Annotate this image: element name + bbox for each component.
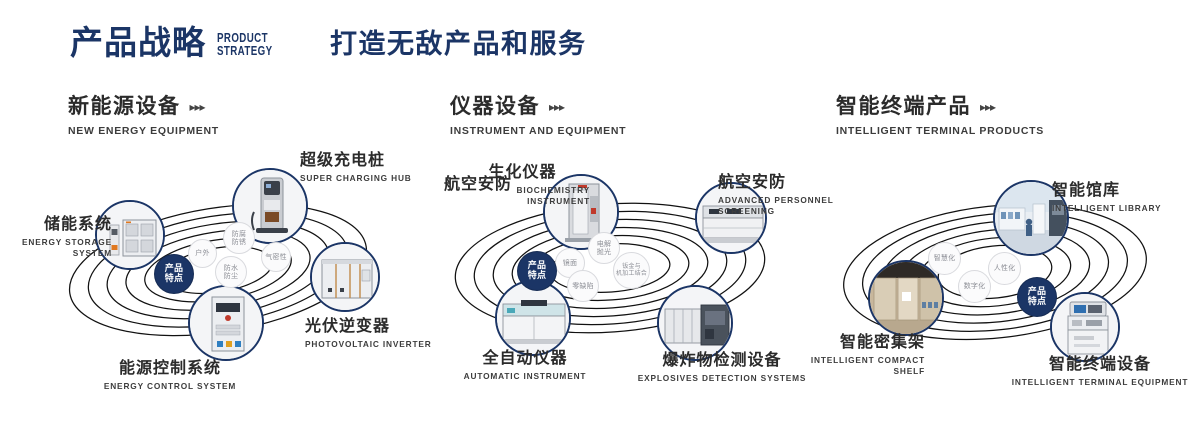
chevron-right-icon: ▸▸▸ [980, 101, 995, 113]
node-explosives-detection-systems[interactable] [657, 285, 733, 361]
section-title-cn: 仪器设备 [450, 96, 540, 117]
feature-label: 人性化 [994, 264, 1016, 272]
feature-bubble: 气密性 [261, 242, 291, 272]
feature-label: 气密性 [265, 253, 287, 261]
label-cn: 生化仪器 [455, 164, 590, 182]
feature-label: 零缺陷 [572, 282, 594, 290]
core-badge-product-features: 产品 特点 [1018, 278, 1056, 316]
feature-label: 智慧化 [934, 254, 956, 262]
label-en: INTELLIGENT COMPACT SHELF [790, 355, 925, 377]
label-en: AUTOMATIC INSTRUMENT [430, 371, 620, 382]
feature-bubble: 户外 [188, 239, 217, 268]
node-automatic-instrument[interactable] [495, 280, 571, 356]
label-biochemistry-instrument: 生化仪器 BIOCHEMISTRY INSTRUMENT [455, 164, 590, 207]
feature-bubble: 数字化 [958, 270, 991, 303]
label-energy-storage-system: 储能系统 ENERGY STORAGE SYSTEM [0, 216, 112, 259]
label-en: INTELLIGENT LIBRARY [1052, 203, 1161, 214]
page-title-cn: 产品战略 [70, 26, 206, 59]
label-en: PHOTOVOLTAIC INVERTER [305, 339, 432, 350]
label-cn: 超级充电桩 [300, 152, 412, 170]
label-intelligent-library: 智能馆库 INTELLIGENT LIBRARY [1052, 182, 1161, 214]
feature-label: 电解 抛光 [597, 240, 611, 256]
feature-bubble: 人性化 [988, 252, 1021, 285]
label-en: ENERGY CONTROL SYSTEM [85, 381, 255, 392]
section-title-cn: 智能终端产品 [836, 96, 971, 117]
kiosk-icon [1052, 294, 1118, 360]
core-badge-label: 产品 特点 [165, 264, 184, 284]
page-title-en: PRODUCT STRATEGY [217, 32, 272, 57]
label-cn: 智能密集架 [790, 334, 925, 352]
label-cn: 全自动仪器 [430, 350, 620, 368]
core-badge-product-features: 产品 特点 [518, 252, 556, 290]
explosive-detector-icon [659, 287, 731, 359]
section-heading-new-energy: 新能源设备 ▸▸▸ NEW ENERGY EQUIPMENT [68, 96, 219, 137]
page-title-en-line1: PRODUCT [217, 32, 272, 45]
core-badge-label: 产品 特点 [1028, 287, 1047, 307]
label-super-charging-hub: 超级充电桩 SUPER CHARGING HUB [300, 152, 412, 184]
label-energy-control-system: 能源控制系统 ENERGY CONTROL SYSTEM [85, 360, 255, 392]
control-cabinet-icon [190, 287, 262, 359]
label-intelligent-terminal-equipment: 智能终端设备 INTELLIGENT TERMINAL EQUIPMENT [1000, 356, 1200, 388]
page-title: 产品战略 PRODUCT STRATEGY [70, 26, 288, 59]
node-intelligent-compact-shelf[interactable] [868, 260, 944, 336]
node-photovoltaic-inverter[interactable] [310, 242, 380, 312]
feature-label: 防腐 防锈 [232, 230, 246, 246]
label-intelligent-compact-shelf: 智能密集架 INTELLIGENT COMPACT SHELF [790, 334, 925, 377]
section-heading-intelligent: 智能终端产品 ▸▸▸ INTELLIGENT TERMINAL PRODUCTS [836, 96, 1044, 137]
label-photovoltaic-inverter: 光伏逆变器 PHOTOVOLTAIC INVERTER [305, 318, 432, 350]
pv-inverter-icon [312, 244, 378, 310]
label-cn: 智能馆库 [1052, 182, 1161, 200]
label-cn: 能源控制系统 [85, 360, 255, 378]
feature-label: 防水 防尘 [224, 264, 238, 280]
label-automatic-instrument: 全自动仪器 AUTOMATIC INSTRUMENT [430, 350, 620, 382]
label-cn: 储能系统 [0, 216, 112, 234]
feature-label: 数字化 [964, 282, 986, 290]
page-title-en-line2: STRATEGY [217, 45, 272, 58]
node-intelligent-terminal-equipment[interactable] [1050, 292, 1120, 362]
feature-bubble: 钣金与 机加工结合 [613, 252, 650, 289]
feature-label: 镜面 [563, 259, 577, 267]
label-cn: 智能终端设备 [1000, 356, 1200, 374]
section-title-en: INTELLIGENT TERMINAL PRODUCTS [836, 125, 1044, 137]
core-badge-product-features: 产品 特点 [155, 255, 193, 293]
page-subtitle: 打造无敌产品和服务 [330, 31, 587, 58]
section-title-en: NEW ENERGY EQUIPMENT [68, 125, 219, 137]
feature-bubble: 防水 防尘 [215, 256, 247, 288]
compact-shelf-icon [870, 262, 942, 334]
label-en: BIOCHEMISTRY INSTRUMENT [455, 185, 590, 207]
chevron-right-icon: ▸▸▸ [549, 101, 564, 113]
node-energy-control-system[interactable] [188, 285, 264, 361]
poster-root: 产品战略 PRODUCT STRATEGY 打造无敌产品和服务 新能源设备 ▸▸… [0, 0, 1200, 422]
feature-bubble: 防腐 防锈 [223, 222, 255, 254]
core-badge-label: 产品 特点 [528, 261, 547, 281]
auto-instrument-icon [497, 282, 569, 354]
feature-bubble: 零缺陷 [567, 270, 599, 302]
label-en: INTELLIGENT TERMINAL EQUIPMENT [1000, 377, 1200, 388]
label-en: SUPER CHARGING HUB [300, 173, 412, 184]
section-heading-instrument: 仪器设备 ▸▸▸ INSTRUMENT AND EQUIPMENT [450, 96, 626, 137]
feature-bubble: 智慧化 [928, 242, 961, 275]
chevron-right-icon: ▸▸▸ [190, 101, 205, 113]
label-cn: 光伏逆变器 [305, 318, 432, 336]
label-en: ENERGY STORAGE SYSTEM [0, 237, 112, 259]
feature-label: 钣金与 机加工结合 [616, 264, 647, 278]
feature-label: 户外 [195, 249, 209, 257]
section-title-en: INSTRUMENT AND EQUIPMENT [450, 125, 626, 137]
section-title-cn: 新能源设备 [68, 96, 181, 117]
